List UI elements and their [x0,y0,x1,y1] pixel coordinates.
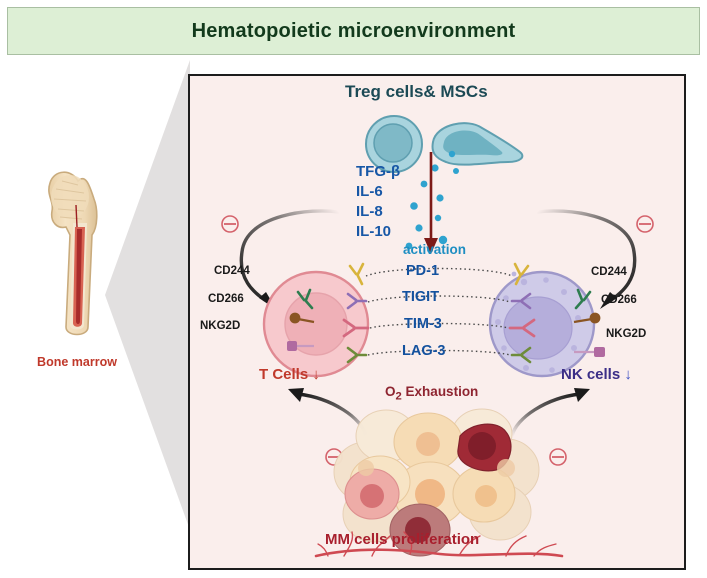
femur-bone-icon [40,165,150,340]
inhibit-symbol-top-left [222,216,238,232]
figure-title-banner: Hematopoietic microenvironment [7,7,700,55]
checkpoint-label-pd1: PD-1 [406,263,439,279]
microenvironment-panel: Treg cells& MSCs TFG-β IL-6 IL-8 IL-10 [188,74,686,570]
figure-root: Hematopoietic microenvironment Bon [0,0,707,578]
page-title: Hematopoietic microenvironment [192,20,516,43]
checkpoint-label-tigit: TIGIT [402,289,439,305]
checkpoint-label-tim3: TIM-3 [404,316,442,332]
bone-marrow-label: Bone marrow [12,355,142,369]
inhibit-symbol-top-right [637,216,653,232]
treg-msc-title: Treg cells& MSCs [345,82,488,102]
mm-proliferation-label: MM cells proliferation [325,531,479,548]
checkpoint-label-lag3: LAG-3 [402,343,446,359]
